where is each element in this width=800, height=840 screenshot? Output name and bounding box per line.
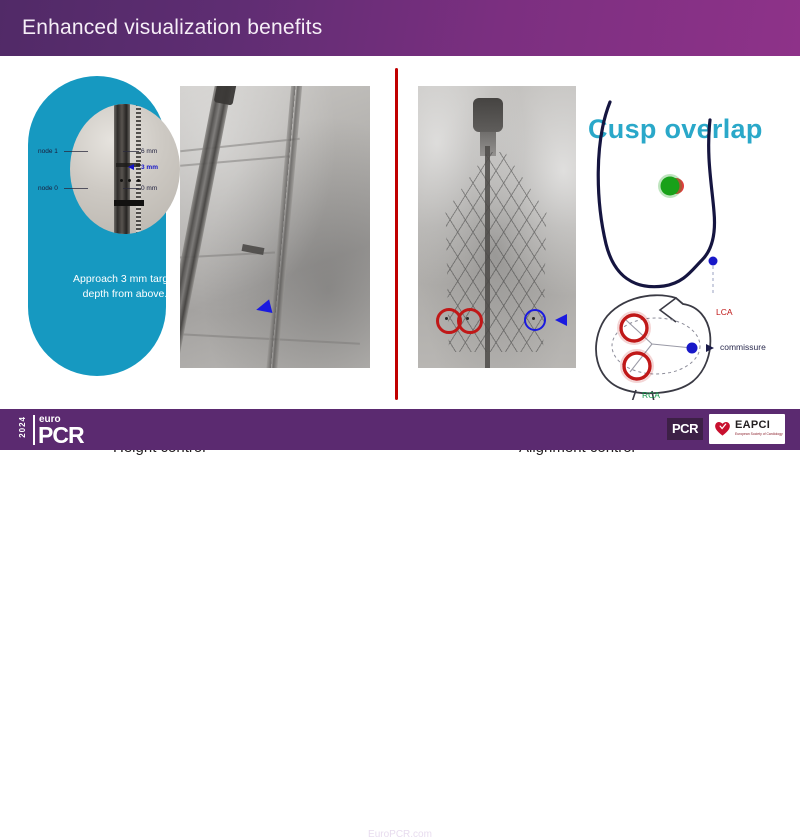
logo-pcr-text: PCR <box>38 422 84 449</box>
pcr-badge: PCR <box>667 418 703 440</box>
radiopaque-dot <box>128 179 131 182</box>
leader-line-0mm <box>123 188 139 189</box>
annotation-arrow-icon <box>255 299 273 316</box>
rib-shadow <box>180 138 300 153</box>
slide-body: node 1 node 0 6 mm 3 mm 0 mm Approach 3 … <box>0 56 800 405</box>
eapci-name: EAPCI <box>735 419 770 431</box>
marker-dot <box>532 317 535 320</box>
label-6mm: 6 mm <box>141 148 157 155</box>
logo-divider <box>33 415 35 445</box>
label-rca: RCA <box>642 390 660 400</box>
leader-line-node-0 <box>64 188 88 189</box>
slide-header: Enhanced visualization benefits <box>0 0 800 56</box>
cusp-overlap-diagram: LCA RCA commissure <box>580 94 798 400</box>
device-ruler-photo <box>70 104 180 234</box>
eapci-badge: EAPCI European Society of Cardiology <box>709 414 785 444</box>
anatomy-svg <box>580 94 798 400</box>
logo-year: 2024 <box>18 416 27 438</box>
fluoroscopy-image-height-control <box>180 86 370 368</box>
label-node-1: node 1 <box>38 148 58 155</box>
heart-icon <box>713 419 732 438</box>
section-divider <box>395 68 398 400</box>
node-0-marker <box>114 200 144 206</box>
catheter-tip <box>214 86 238 106</box>
valve-capsule <box>473 98 503 132</box>
label-3mm: 3 mm <box>141 164 158 171</box>
delivery-rod <box>485 146 490 368</box>
rib-shadow <box>180 155 290 167</box>
marker-dot <box>445 317 448 320</box>
leader-line-6mm <box>123 151 139 152</box>
europcr-logo: 2024 euro PCR <box>18 414 110 446</box>
leader-line-node-1 <box>64 151 88 152</box>
fluoroscopy-image-alignment-control <box>418 86 576 368</box>
marker-ring-red <box>457 308 483 334</box>
height-control-panel: node 1 node 0 6 mm 3 mm 0 mm Approach 3 … <box>28 76 166 376</box>
marker-ring-blue <box>524 309 546 331</box>
annotation-arrow-icon <box>555 314 567 326</box>
label-node-0: node 0 <box>38 185 58 192</box>
label-lca: LCA <box>716 307 733 317</box>
height-control-caption: Approach 3 mm target depth from above. <box>62 272 188 302</box>
page-title: Enhanced visualization benefits <box>22 16 322 40</box>
eapci-subtitle: European Society of Cardiology <box>735 432 783 436</box>
marker-dot <box>466 317 469 320</box>
depth-target-arrow-icon <box>128 164 134 170</box>
label-0mm: 0 mm <box>141 185 157 192</box>
guidewire <box>265 86 303 368</box>
label-commissure: commissure <box>720 342 766 352</box>
delivery-catheter <box>180 86 233 368</box>
footer-url: EuroPCR.com <box>0 829 800 840</box>
